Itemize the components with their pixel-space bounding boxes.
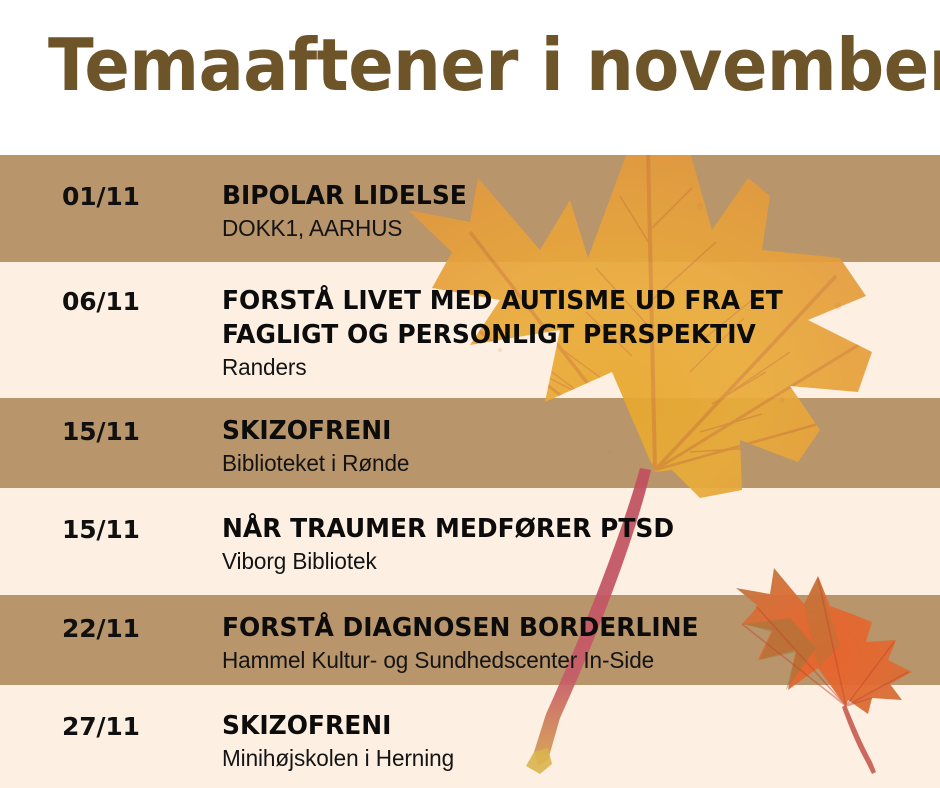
- event-title: FORSTÅ LIVET MED AUTISME UD FRA ET: [222, 284, 894, 318]
- event-title-line2: FAGLIGT OG PERSONLIGT PERSPEKTIV: [222, 318, 894, 352]
- event-body: BIPOLAR LIDELSEDOKK1, AARHUS: [222, 179, 922, 243]
- event-title: SKIZOFRENI: [222, 709, 894, 743]
- schedule-row[interactable]: 01/11BIPOLAR LIDELSEDOKK1, AARHUS: [0, 155, 940, 262]
- event-title: NÅR TRAUMER MEDFØRER PTSD: [222, 512, 894, 546]
- event-body: NÅR TRAUMER MEDFØRER PTSDViborg Bibliote…: [222, 512, 922, 576]
- schedule-row[interactable]: 27/11SKIZOFRENIMinihøjskolen i Herning: [0, 685, 940, 788]
- event-venue: Viborg Bibliotek: [222, 546, 908, 576]
- event-date: 22/11: [62, 614, 192, 644]
- event-date: 15/11: [62, 515, 192, 545]
- schedule-row[interactable]: 15/11SKIZOFRENIBiblioteket i Rønde: [0, 398, 940, 488]
- schedule-row[interactable]: 15/11NÅR TRAUMER MEDFØRER PTSDViborg Bib…: [0, 488, 940, 595]
- page-title: Temaaftener i november: [48, 22, 940, 108]
- event-venue: Hammel Kultur- og Sundhedscenter In-Side: [222, 645, 908, 675]
- event-body: SKIZOFRENIMinihøjskolen i Herning: [222, 709, 922, 773]
- schedule-row[interactable]: 22/11FORSTÅ DIAGNOSEN BORDERLINEHammel K…: [0, 595, 940, 685]
- event-date: 01/11: [62, 182, 192, 212]
- event-title: SKIZOFRENI: [222, 414, 894, 448]
- event-date: 27/11: [62, 712, 192, 742]
- event-venue: Randers: [222, 352, 908, 382]
- event-title: FORSTÅ DIAGNOSEN BORDERLINE: [222, 611, 894, 645]
- poster-canvas: Temaaftener i november 01/11BIPOLAR LIDE…: [0, 0, 940, 788]
- schedule-row[interactable]: 06/11FORSTÅ LIVET MED AUTISME UD FRA ETF…: [0, 262, 940, 398]
- event-body: SKIZOFRENIBiblioteket i Rønde: [222, 414, 922, 478]
- event-date: 06/11: [62, 287, 192, 317]
- title-area: Temaaftener i november: [0, 0, 940, 155]
- event-body: FORSTÅ LIVET MED AUTISME UD FRA ETFAGLIG…: [222, 284, 922, 382]
- event-venue: Biblioteket i Rønde: [222, 448, 908, 478]
- event-venue: Minihøjskolen i Herning: [222, 743, 908, 773]
- event-body: FORSTÅ DIAGNOSEN BORDERLINEHammel Kultur…: [222, 611, 922, 675]
- event-title: BIPOLAR LIDELSE: [222, 179, 894, 213]
- event-date: 15/11: [62, 417, 192, 447]
- event-venue: DOKK1, AARHUS: [222, 213, 908, 243]
